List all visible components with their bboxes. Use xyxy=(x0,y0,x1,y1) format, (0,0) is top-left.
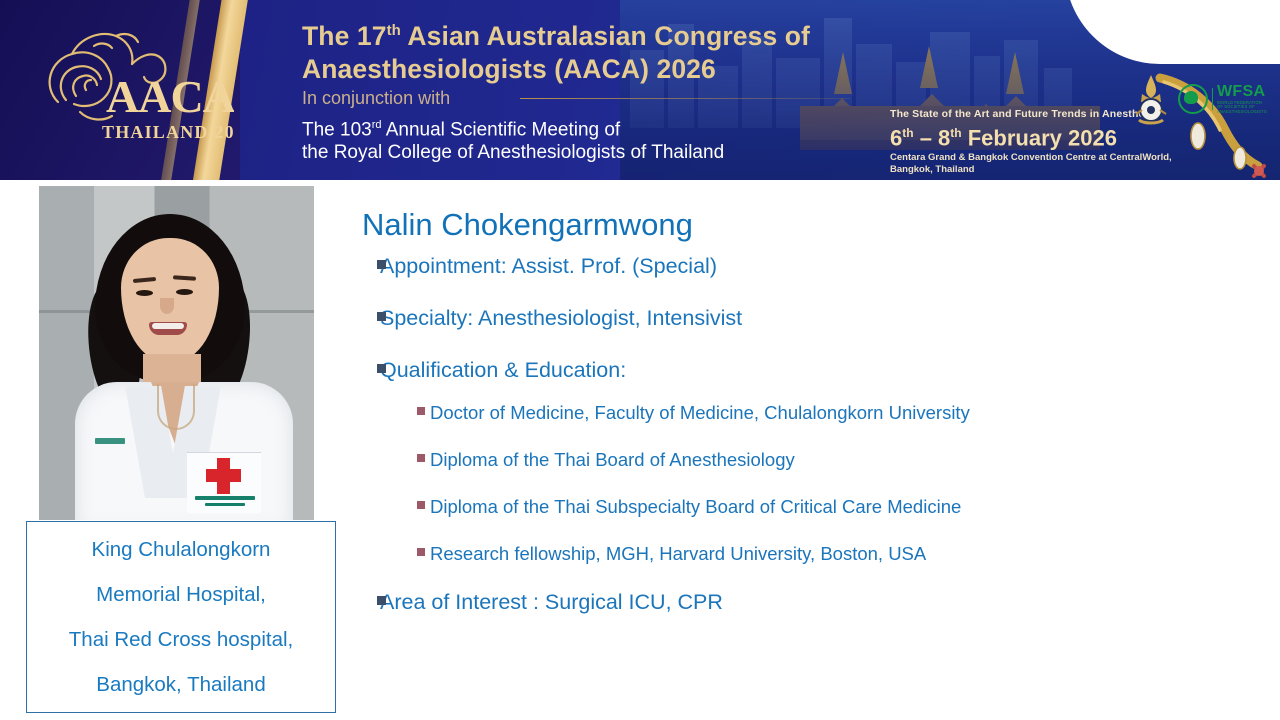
qualification-sublist: Doctor of Medicine, Faculty of Medicine,… xyxy=(362,401,1262,565)
wfsa-globe-icon xyxy=(1178,84,1208,114)
sub-bullet-square-icon xyxy=(417,501,425,509)
banner-title-line1-pre: The 17 xyxy=(302,21,387,51)
sub-bullet-label: Diploma of the Thai Board of Anesthesiol… xyxy=(430,449,795,470)
bullet-label: Appointment: Assist. Prof. (Special) xyxy=(380,254,717,278)
wfsa-full-name: WORLD FEDERATION OF SOCIETIES OF ANAESTH… xyxy=(1217,101,1267,114)
affiliation-caption-box: King Chulalongkorn Memorial Hospital, Th… xyxy=(26,521,336,713)
banner-date-start: 6 xyxy=(890,125,902,150)
wfsa-logo: WFSA WORLD FEDERATION OF SOCIETIES OF AN… xyxy=(1178,82,1266,116)
banner-venue-line1: Centara Grand & Bangkok Convention Centr… xyxy=(890,152,1172,163)
banner-divider-rule xyxy=(520,98,850,99)
sub-bullet-label: Diploma of the Thai Subspecialty Board o… xyxy=(430,496,961,517)
banner-venue-line2: Bangkok, Thailand xyxy=(890,164,974,175)
svg-text:AACA: AACA xyxy=(106,71,234,122)
banner-date-month: February 2026 xyxy=(962,125,1117,150)
bullet-square-icon xyxy=(377,364,386,373)
banner-title-line2: Anaesthesiologists (AACA) 2026 xyxy=(302,54,716,84)
banner-subtitle: The 103rd Annual Scientific Meeting of t… xyxy=(302,114,724,164)
banner-in-conjunction-label: In conjunction with xyxy=(302,88,450,109)
banner-title: The 17th Asian Australasian Congress of … xyxy=(302,14,902,86)
list-item: Doctor of Medicine, Faculty of Medicine,… xyxy=(362,401,1262,424)
list-item: Diploma of the Thai Board of Anesthesiol… xyxy=(362,448,1262,471)
bullet-label: Specialty: Anesthesiologist, Intensivist xyxy=(380,306,742,330)
bullet-label: Area of Interest : Surgical ICU, CPR xyxy=(380,590,723,614)
page-title: Nalin Chokengarmwong xyxy=(362,205,1262,245)
banner-sub-line1-post: Annual Scientific Meeting of xyxy=(382,119,621,140)
sub-bullet-label: Doctor of Medicine, Faculty of Medicine,… xyxy=(430,402,970,423)
sub-bullet-square-icon xyxy=(417,407,425,415)
banner-title-ordinal: th xyxy=(387,22,401,39)
list-item: Appointment: Assist. Prof. (Special) xyxy=(362,253,1262,279)
svg-text:THAILAND 2026: THAILAND 2026 xyxy=(102,122,234,142)
caption-line: Bangkok, Thailand xyxy=(96,662,265,707)
sub-bullet-square-icon xyxy=(417,454,425,462)
royal-college-crest-icon xyxy=(1130,74,1172,126)
banner-sub-line1-pre: The 103 xyxy=(302,119,372,140)
banner-date-start-ordinal: th xyxy=(902,126,913,140)
bullet-label: Qualification & Education: xyxy=(380,358,626,382)
speaker-details-panel: Nalin Chokengarmwong Appointment: Assist… xyxy=(362,205,1262,641)
caption-line: Thai Red Cross hospital, xyxy=(69,617,293,662)
name-tag-embroidery xyxy=(95,438,125,444)
bullet-square-icon xyxy=(377,596,386,605)
bullet-square-icon xyxy=(377,312,386,321)
wfsa-divider xyxy=(1212,88,1213,110)
banner-sub-line2: the Royal College of Anesthesiologists o… xyxy=(302,142,724,163)
list-item: Diploma of the Thai Subspecialty Board o… xyxy=(362,495,1262,518)
list-item: Area of Interest : Surgical ICU, CPR xyxy=(362,589,1262,615)
banner-venue: Centara Grand & Bangkok Convention Centr… xyxy=(890,152,1220,175)
bullet-square-icon xyxy=(377,260,386,269)
list-item: Qualification & Education: xyxy=(362,357,1262,383)
speaker-portrait-photo xyxy=(39,186,314,520)
banner-sub-ordinal: rd xyxy=(372,119,382,131)
wfsa-acronym: WFSA xyxy=(1217,83,1265,100)
banner-title-line1-post: Asian Australasian Congress of xyxy=(401,21,810,51)
list-item: Specialty: Anesthesiologist, Intensivist xyxy=(362,305,1262,331)
aaca-logo: AACA THAILAND 2026 xyxy=(28,16,234,164)
list-item: Research fellowship, MGH, Harvard Univer… xyxy=(362,542,1262,565)
caption-line: Memorial Hospital, xyxy=(96,572,266,617)
banner-date-end: 8 xyxy=(938,125,950,150)
caption-line: King Chulalongkorn xyxy=(92,527,271,572)
sub-bullet-label: Research fellowship, MGH, Harvard Univer… xyxy=(430,543,926,564)
congress-banner: AACA THAILAND 2026 The 17th Asian Austra… xyxy=(0,0,1280,180)
sub-bullet-square-icon xyxy=(417,548,425,556)
banner-date-end-ordinal: th xyxy=(950,126,961,140)
banner-date-dash: – xyxy=(914,125,938,150)
